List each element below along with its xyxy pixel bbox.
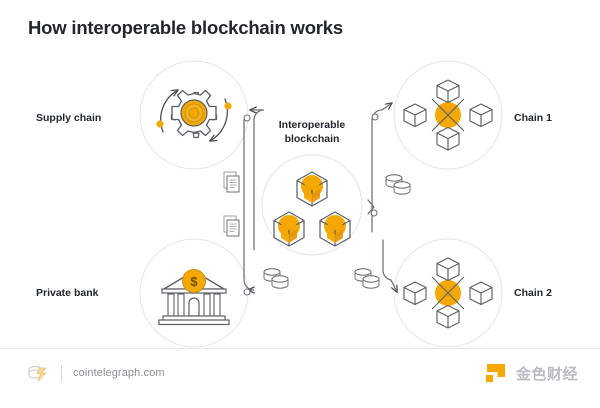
footer-separator <box>61 365 62 382</box>
jinse-mark-icon <box>483 362 509 384</box>
footer-site-url: cointelegraph.com <box>73 367 165 379</box>
node-label-interoperable-blockchain: Interoperable blockchain <box>262 118 362 146</box>
center-label-line-1: Interoperable <box>279 119 346 131</box>
coins-stack-icon <box>355 269 379 288</box>
svg-text:$: $ <box>190 274 198 289</box>
cointelegraph-logo-icon <box>26 363 50 383</box>
node-label-chain-2: Chain 2 <box>514 287 552 299</box>
partner-name: 金色财经 <box>516 363 578 384</box>
connector-center-to-bank <box>244 120 254 295</box>
coins-stack-icon <box>386 175 410 194</box>
footer-branding: cointelegraph.com <box>26 363 165 383</box>
documents-stack-icon <box>224 216 239 236</box>
node-label-private-bank: Private bank <box>36 287 98 299</box>
documents-stack-icon <box>224 172 239 192</box>
connector-supply-to-center <box>244 110 264 250</box>
infographic-canvas: How interoperable blockchain works <box>0 0 600 408</box>
diagram-artwork: $ <box>0 0 600 408</box>
node-label-supply-chain: Supply chain <box>36 112 101 124</box>
node-label-chain-1: Chain 1 <box>514 112 552 124</box>
partner-branding: 金色财经 <box>483 362 578 384</box>
center-label-line-2: blockchain <box>285 133 340 145</box>
coins-stack-icon <box>264 269 288 288</box>
footer-divider-rule <box>0 348 600 349</box>
